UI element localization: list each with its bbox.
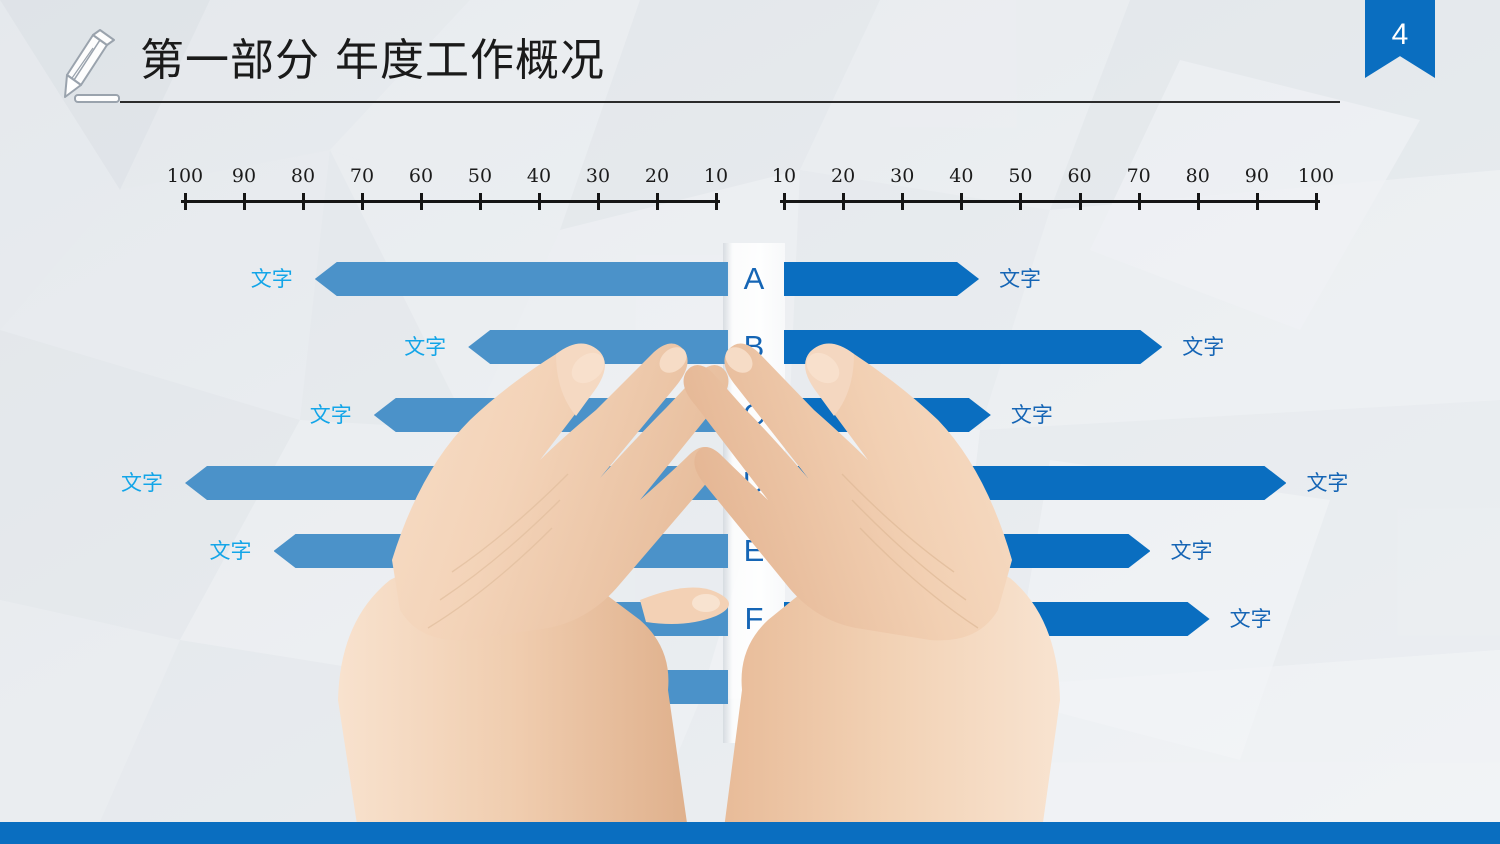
axis-left-tick bbox=[715, 193, 718, 210]
row-letter-d: D bbox=[723, 466, 785, 500]
chart-row-d: 文字D文字 bbox=[0, 466, 1500, 500]
row-letter-c: C bbox=[723, 398, 785, 432]
chart-row-g: 文字G文字 bbox=[0, 670, 1500, 704]
label-right-d: 文字 bbox=[1306, 466, 1348, 500]
axis-right-tick bbox=[960, 193, 963, 210]
bar-left-d[interactable] bbox=[185, 466, 728, 500]
bar-left-e[interactable] bbox=[274, 534, 729, 568]
bar-right-e[interactable] bbox=[784, 534, 1150, 568]
tornado-chart: 100908070605040302010 102030405060708090… bbox=[0, 0, 1500, 844]
bar-left-b[interactable] bbox=[468, 330, 728, 364]
axis-right-line bbox=[780, 200, 1320, 203]
chart-row-e: 文字E文字 bbox=[0, 534, 1500, 568]
row-letter-a: A bbox=[723, 262, 785, 296]
label-right-f: 文字 bbox=[1230, 602, 1272, 636]
axis-left-tick bbox=[420, 193, 423, 210]
axis-right-tick bbox=[1079, 193, 1082, 210]
axis-left-tick-label: 10 bbox=[704, 165, 728, 187]
axis-left-tick-label: 80 bbox=[291, 165, 315, 187]
label-left-g: 文字 bbox=[475, 670, 517, 704]
chart-row-a: 文字A文字 bbox=[0, 262, 1500, 296]
axis-right-tick-label: 70 bbox=[1127, 165, 1151, 187]
axis-right-tick-label: 100 bbox=[1298, 165, 1334, 187]
row-letter-e: E bbox=[723, 534, 785, 568]
label-left-c: 文字 bbox=[310, 398, 352, 432]
label-left-f: 文字 bbox=[457, 602, 499, 636]
axis-right-tick bbox=[901, 193, 904, 210]
axis-left-tick-label: 100 bbox=[167, 165, 203, 187]
bar-right-a[interactable] bbox=[784, 262, 979, 296]
axis-right-tick-label: 20 bbox=[831, 165, 855, 187]
bar-left-g[interactable] bbox=[539, 670, 728, 704]
axis-left-tick bbox=[243, 193, 246, 210]
bar-right-d[interactable] bbox=[784, 466, 1286, 500]
axis-right-tick bbox=[1315, 193, 1318, 210]
axis-left-tick bbox=[538, 193, 541, 210]
label-left-e: 文字 bbox=[210, 534, 252, 568]
axis-right-tick bbox=[1019, 193, 1022, 210]
axis-right-tick bbox=[783, 193, 786, 210]
axis-right-tick-label: 60 bbox=[1067, 165, 1091, 187]
axis-left: 100908070605040302010 bbox=[181, 178, 720, 218]
label-right-g: 文字 bbox=[981, 670, 1023, 704]
axis-right-tick bbox=[1138, 193, 1141, 210]
label-left-a: 文字 bbox=[251, 262, 293, 296]
axis-left-tick bbox=[302, 193, 305, 210]
axis-left-tick-label: 30 bbox=[586, 165, 610, 187]
bar-left-c[interactable] bbox=[374, 398, 728, 432]
bottom-accent-bar bbox=[0, 822, 1500, 844]
chart-row-b: 文字B文字 bbox=[0, 330, 1500, 364]
axis-right: 102030405060708090100 bbox=[780, 178, 1320, 218]
bar-right-g[interactable] bbox=[784, 670, 961, 704]
axis-right-tick bbox=[1197, 193, 1200, 210]
label-right-c: 文字 bbox=[1011, 398, 1053, 432]
label-right-b: 文字 bbox=[1182, 330, 1224, 364]
bar-left-f[interactable] bbox=[521, 602, 728, 636]
axis-left-tick bbox=[479, 193, 482, 210]
label-right-a: 文字 bbox=[999, 262, 1041, 296]
chart-row-f: 文字F文字 bbox=[0, 602, 1500, 636]
axis-left-tick-label: 60 bbox=[409, 165, 433, 187]
axis-left-tick-label: 20 bbox=[645, 165, 669, 187]
axis-left-tick-label: 70 bbox=[350, 165, 374, 187]
axis-left-line bbox=[181, 200, 720, 203]
bar-left-a[interactable] bbox=[315, 262, 728, 296]
axis-left-tick-label: 90 bbox=[232, 165, 256, 187]
row-letter-b: B bbox=[723, 330, 785, 364]
axis-right-tick bbox=[1256, 193, 1259, 210]
label-right-e: 文字 bbox=[1170, 534, 1212, 568]
axis-right-tick-label: 50 bbox=[1008, 165, 1032, 187]
axis-right-tick-label: 90 bbox=[1245, 165, 1269, 187]
bar-right-f[interactable] bbox=[784, 602, 1210, 636]
row-letter-g: G bbox=[723, 670, 785, 704]
chart-row-c: 文字C文字 bbox=[0, 398, 1500, 432]
row-letter-f: F bbox=[723, 602, 785, 636]
axis-right-tick-label: 80 bbox=[1186, 165, 1210, 187]
slide-canvas: 第一部分 年度工作概况 4 100908070605040302010 1020… bbox=[0, 0, 1500, 844]
axis-left-tick bbox=[656, 193, 659, 210]
axis-left-tick bbox=[597, 193, 600, 210]
axis-left-tick bbox=[184, 193, 187, 210]
axis-right-tick-label: 10 bbox=[772, 165, 796, 187]
bar-right-b[interactable] bbox=[784, 330, 1162, 364]
bar-right-c[interactable] bbox=[784, 398, 991, 432]
axis-right-tick-label: 40 bbox=[949, 165, 973, 187]
axis-right-tick-label: 30 bbox=[890, 165, 914, 187]
axis-left-tick-label: 40 bbox=[527, 165, 551, 187]
label-left-b: 文字 bbox=[404, 330, 446, 364]
label-left-d: 文字 bbox=[121, 466, 163, 500]
axis-right-tick bbox=[842, 193, 845, 210]
axis-left-tick-label: 50 bbox=[468, 165, 492, 187]
axis-left-tick bbox=[361, 193, 364, 210]
